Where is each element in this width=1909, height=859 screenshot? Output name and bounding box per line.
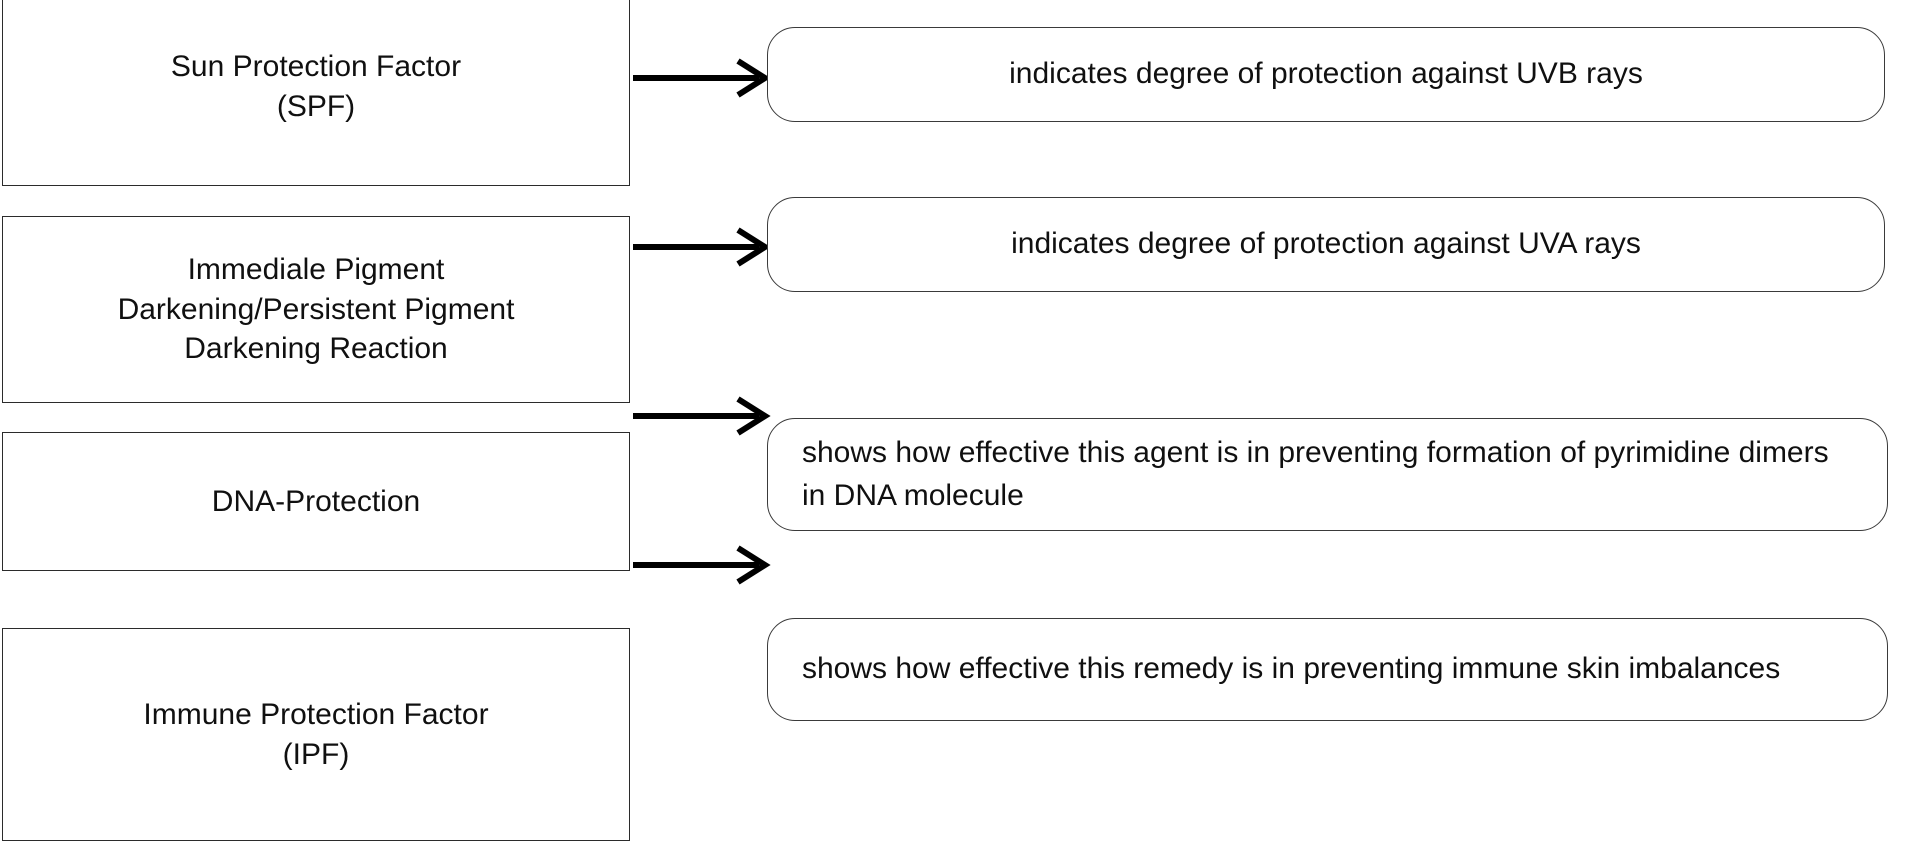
description-box-ipd-ppd[interactable]: indicates degree of protection against U… [767,197,1885,292]
arrow-right-icon-row-2 [633,227,767,265]
term-label-dna-protection: DNA-Protection [198,482,434,522]
description-label-ipf: shows how effective this remedy is in pr… [768,648,1887,691]
arrow-right-icon-row-1 [633,58,767,96]
diagram-canvas: Sun Protection Factor (SPF) indicates de… [0,0,1909,859]
term-label-spf: Sun Protection Factor (SPF) [157,47,475,126]
description-box-spf[interactable]: indicates degree of protection against U… [767,27,1885,122]
term-box-ipd-ppd[interactable]: Immediale Pigment Darkening/Persistent P… [2,216,630,403]
term-box-ipf[interactable]: Immune Protection Factor (IPF) [2,628,630,841]
arrow-right-icon-row-3 [633,396,767,434]
description-box-ipf[interactable]: shows how effective this remedy is in pr… [767,618,1888,721]
term-label-ipd-ppd: Immediale Pigment Darkening/Persistent P… [104,250,529,369]
term-label-ipf: Immune Protection Factor (IPF) [129,695,502,774]
description-box-dna-protection[interactable]: shows how effective this agent is in pre… [767,418,1888,531]
description-label-dna-protection: shows how effective this agent is in pre… [768,432,1887,517]
term-box-dna-protection[interactable]: DNA-Protection [2,432,630,571]
arrow-right-icon-row-4 [633,545,767,583]
description-label-spf: indicates degree of protection against U… [768,53,1884,96]
description-label-ipd-ppd: indicates degree of protection against U… [768,223,1884,266]
term-box-spf[interactable]: Sun Protection Factor (SPF) [2,0,630,186]
